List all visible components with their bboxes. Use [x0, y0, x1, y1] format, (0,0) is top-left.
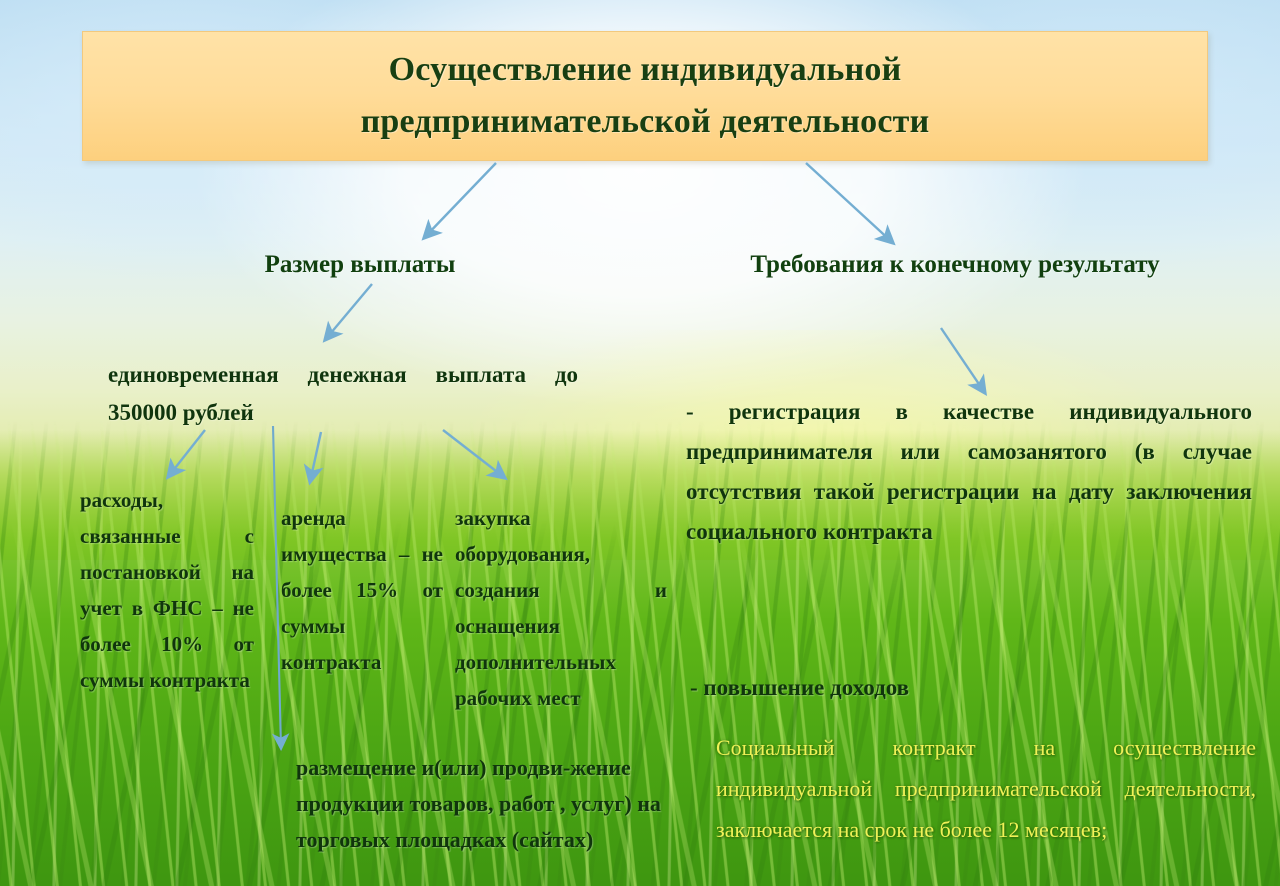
title-box: Осуществление индивидуальной предпринима…	[82, 31, 1208, 161]
branch-heading-final-result-requirements: Требования к конечному результату	[740, 246, 1170, 284]
requirement-income-increase-text: - повышение доходов	[690, 670, 1090, 706]
requirement-registration-text: - регистрация в качестве индивидуального…	[686, 392, 1252, 552]
title-line-2: предпринимательской деятельности	[361, 96, 930, 148]
expense-item-registration-costs: расходы, связанные с постановкой на учет…	[80, 482, 254, 698]
title-line-1: Осуществление индивидуальной	[389, 44, 902, 96]
social-contract-duration-note: Социальный контракт на осуществление инд…	[716, 727, 1256, 850]
expense-item-equipment-purchase: закупка оборудования, создания и оснащен…	[455, 500, 667, 716]
payment-amount-text: единовременная денежная выплата до 35000…	[108, 356, 578, 432]
branch-heading-payment-amount: Размер выплаты	[150, 246, 570, 284]
expense-item-property-rent: аренда имущества – не более 15% от суммы…	[281, 500, 443, 680]
expense-item-product-promotion: размещение и(или) продви-жение продукции…	[296, 750, 668, 858]
slide-canvas: Осуществление индивидуальной предпринима…	[0, 0, 1280, 886]
